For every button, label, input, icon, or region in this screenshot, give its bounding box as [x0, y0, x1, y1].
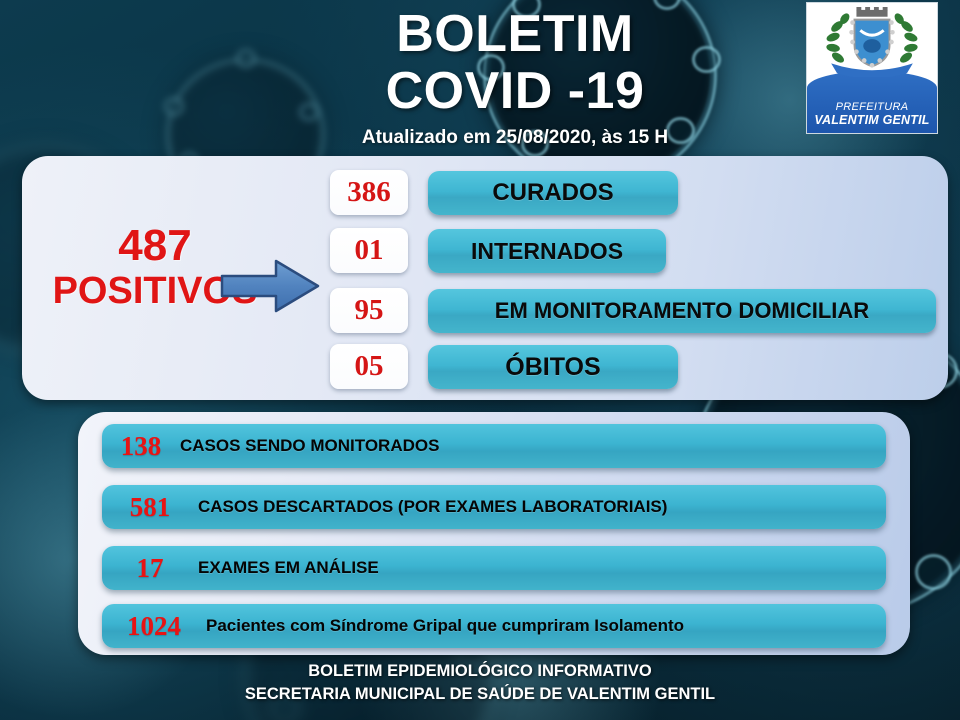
- stat-value: 581: [102, 492, 198, 523]
- covid-bulletin-poster: BOLETIM COVID -19 Atualizado em 25/08/20…: [0, 0, 960, 720]
- prefeitura-logo: PREFEITURA VALENTIM GENTIL: [806, 2, 938, 134]
- breakdown-value-box: 05: [330, 344, 408, 389]
- stat-label: EXAMES EM ANÁLISE: [198, 558, 379, 578]
- breakdown-label-bar: ÓBITOS: [428, 345, 678, 389]
- stat-row: 1024Pacientes com Síndrome Gripal que cu…: [102, 604, 886, 648]
- breakdown-label-bar: CURADOS: [428, 171, 678, 215]
- breakdown-value-box: 01: [330, 228, 408, 273]
- breakdown-value-box: 386: [330, 170, 408, 215]
- logo-line-valentim-gentil: VALENTIM GENTIL: [807, 114, 937, 127]
- breakdown-value-box: 95: [330, 288, 408, 333]
- stat-label: CASOS SENDO MONITORADOS: [180, 436, 439, 456]
- right-arrow-icon: [218, 255, 322, 317]
- footer-line1: BOLETIM EPIDEMIOLÓGICO INFORMATIVO: [0, 660, 960, 683]
- stat-value: 1024: [102, 611, 206, 642]
- statistics-panel: 138CASOS SENDO MONITORADOS581CASOS DESCA…: [78, 412, 910, 655]
- stat-row: 581CASOS DESCARTADOS (POR EXAMES LABORAT…: [102, 485, 886, 529]
- stat-row: 17EXAMES EM ANÁLISE: [102, 546, 886, 590]
- page-title-line1: BOLETIM: [300, 6, 730, 63]
- stat-label: CASOS DESCARTADOS (POR EXAMES LABORATORI…: [198, 497, 667, 517]
- page-title-line2: COVID -19: [300, 63, 730, 120]
- stat-label: Pacientes com Síndrome Gripal que cumpri…: [206, 616, 684, 636]
- footer-line2: SECRETARIA MUNICIPAL DE SAÚDE DE VALENTI…: [0, 683, 960, 706]
- stat-value: 17: [102, 553, 198, 584]
- breakdown-label-bar: INTERNADOS: [428, 229, 666, 273]
- stat-value: 138: [102, 431, 180, 462]
- title-block: BOLETIM COVID -19 Atualizado em 25/08/20…: [300, 6, 730, 150]
- breakdown-label-bar: EM MONITORAMENTO DOMICILIAR: [428, 289, 936, 333]
- updated-timestamp: Atualizado em 25/08/2020, às 15 H: [300, 126, 730, 150]
- logo-text-block: PREFEITURA VALENTIM GENTIL: [807, 101, 937, 127]
- poster-footer: BOLETIM EPIDEMIOLÓGICO INFORMATIVO SECRE…: [0, 660, 960, 706]
- stat-row: 138CASOS SENDO MONITORADOS: [102, 424, 886, 468]
- coat-of-arms-icon: [807, 7, 937, 77]
- poster-header: BOLETIM COVID -19 Atualizado em 25/08/20…: [0, 0, 960, 152]
